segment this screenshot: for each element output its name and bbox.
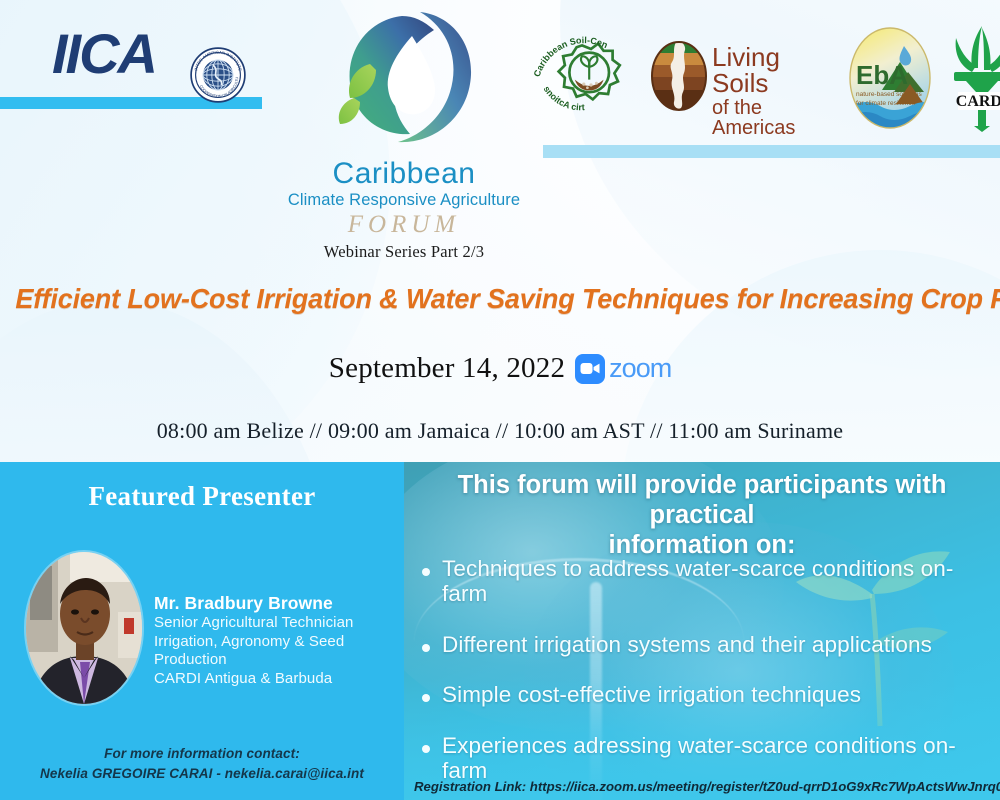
cardi-logo: CARDI: [944, 22, 1000, 132]
contact-info: For more information contact: Nekelia GR…: [0, 744, 404, 785]
presenter-name: Mr. Bradbury Browne: [154, 593, 404, 614]
iica-seal-icon: INTER-AMERICAN INSTITUTE COOPERATION ON …: [190, 47, 246, 103]
presenter-specialty: Irrigation, Agronomy & Seed Production: [154, 633, 404, 671]
gear-seedling-icon: Caribbean Soil-Cen snoitcA cirt: [528, 22, 636, 130]
living-soils-of-the-americas-logo: Living Soils of the Americas: [650, 40, 840, 112]
list-item-label: Experiences adressing water-scarce condi…: [442, 734, 994, 784]
list-item-label: Different irrigation systems and their a…: [442, 633, 932, 658]
forum-logo: Caribbean Climate Responsive Agriculture…: [284, 6, 524, 271]
contact-intro: For more information contact:: [0, 744, 404, 764]
soil-layers-americas-icon: [650, 40, 708, 112]
featured-presenter-title: Featured Presenter: [0, 481, 404, 512]
contact-person[interactable]: Nekelia GREGOIRE CARAI - nekelia.carai@i…: [0, 764, 404, 784]
svg-text:EbA: EbA: [856, 60, 908, 90]
webinar-series-label: Webinar Series Part 2/3: [284, 242, 524, 262]
svg-text:CARDI: CARDI: [956, 93, 1000, 110]
info-bullet-list: Techniques to address water-scarce condi…: [422, 557, 994, 800]
cardi-plant-icon: CARDI: [944, 22, 1000, 132]
list-item-label: Techniques to address water-scarce condi…: [442, 557, 994, 607]
event-date-row: September 14, 2022 zoom: [0, 352, 1000, 385]
info-panel: This forum will provide participants wit…: [404, 462, 1000, 800]
presenter-block: Mr. Bradbury Browne Senior Agricultural …: [20, 552, 400, 727]
info-panel-heading: This forum will provide participants wit…: [422, 470, 982, 560]
page-title: Efficient Low-Cost Irrigation & Water Sa…: [15, 283, 984, 315]
bullet-dot-icon: [422, 745, 430, 753]
forum-logo-line2: Climate Responsive Agriculture: [284, 191, 524, 210]
water-drop-leaf-icon: [324, 6, 484, 156]
partner-logos: Caribbean Soil-Cen snoitcA cirt: [528, 14, 996, 136]
webinar-flyer: IICA INTER-AMERICAN INSTITUTE CO: [0, 0, 1000, 800]
bullet-dot-icon: [422, 568, 430, 576]
bullet-dot-icon: [422, 644, 430, 652]
forum-logo-line1: Caribbean: [284, 158, 524, 190]
list-item: Simple cost-effective irrigation techniq…: [422, 683, 994, 708]
svg-text:IICA: IICA: [52, 25, 156, 85]
presenter-portrait-icon: [26, 552, 142, 704]
info-panel-heading-line1: This forum will provide participants wit…: [422, 470, 982, 530]
list-item: Experiences adressing water-scarce condi…: [422, 734, 994, 784]
presenter-affiliation: CARDI Antigua & Barbuda: [154, 670, 404, 689]
presenter-avatar: [26, 552, 142, 704]
iica-logo: IICA INTER-AMERICAN INSTITUTE CO: [52, 25, 242, 87]
presenter-details: Mr. Bradbury Browne Senior Agricultural …: [154, 593, 404, 689]
event-date: September 14, 2022: [329, 352, 565, 385]
presenter-panel: Featured Presenter: [0, 462, 404, 800]
bullet-dot-icon: [422, 694, 430, 702]
living-soils-line1: Living Soils: [712, 44, 840, 96]
event-times: 08:00 am Belize // 09:00 am Jamaica // 1…: [0, 418, 1000, 444]
caribbean-soil-centric-actions-logo: Caribbean Soil-Cen snoitcA cirt: [528, 22, 636, 130]
forum-logo-line3: FORUM: [284, 211, 524, 239]
list-item: Different irrigation systems and their a…: [422, 633, 994, 658]
presenter-role: Senior Agricultural Technician: [154, 614, 404, 633]
living-soils-line2: of the Americas: [712, 98, 840, 138]
registration-link[interactable]: Registration Link: https://iica.zoom.us/…: [414, 779, 1000, 794]
eba-ellipse-icon: EbA nature-based solutions for climate r…: [846, 26, 934, 130]
list-item-label: Simple cost-effective irrigation techniq…: [442, 683, 861, 708]
living-soils-wordmark: Living Soils of the Americas: [712, 44, 840, 138]
list-item: Techniques to address water-scarce condi…: [422, 557, 994, 607]
svg-text:nature-based solutions: nature-based solutions: [856, 91, 923, 98]
eba-logo: EbA nature-based solutions for climate r…: [846, 26, 934, 130]
zoom-camera-icon: [575, 354, 605, 384]
zoom-wordmark: zoom: [609, 353, 671, 384]
divider-bar-right: [543, 145, 1000, 158]
svg-text:for climate resilience: for climate resilience: [856, 100, 916, 107]
zoom-logo: zoom: [575, 353, 671, 384]
